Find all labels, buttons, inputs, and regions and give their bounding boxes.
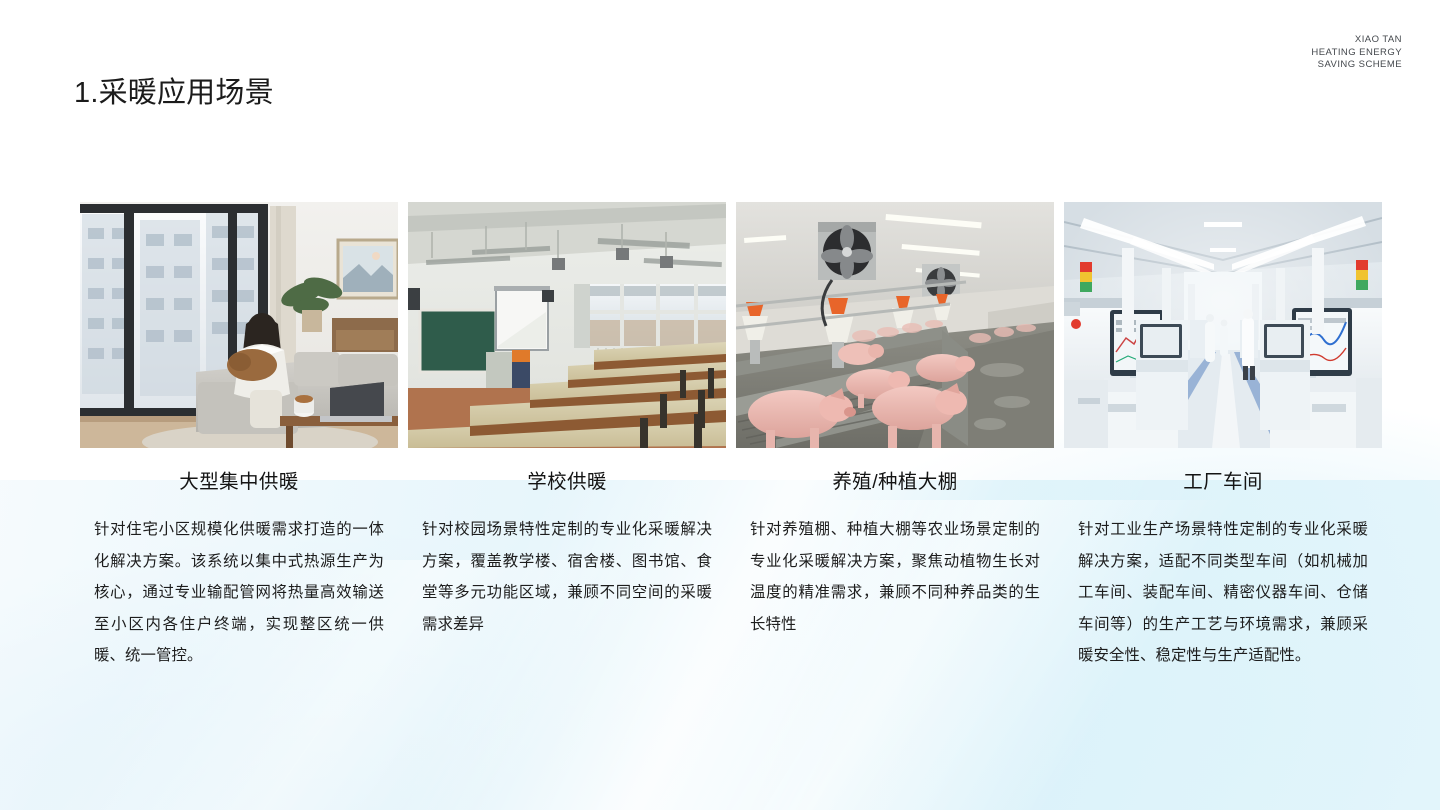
scenario-card-agriculture: 养殖/种植大棚 针对养殖棚、种植大棚等农业场景定制的专业化采暖解决方案，聚焦动植… bbox=[736, 202, 1054, 640]
scenario-card-title: 学校供暖 bbox=[408, 468, 726, 496]
scenario-card-title: 养殖/种植大棚 bbox=[736, 468, 1054, 496]
factory-workshop-photo bbox=[1064, 202, 1382, 448]
scenario-card-school: 学校供暖 针对校园场景特性定制的专业化采暖解决方案，覆盖教学楼、宿舍楼、图书馆、… bbox=[408, 202, 726, 640]
livestock-greenhouse-photo bbox=[736, 202, 1054, 448]
page-title: 1.采暖应用场景 bbox=[74, 73, 274, 113]
school-classroom-photo bbox=[408, 202, 726, 448]
scenario-card-title: 工厂车间 bbox=[1064, 468, 1382, 496]
scenario-card-body: 针对住宅小区规模化供暖需求打造的一体化解决方案。该系统以集中式热源生产为核心，通… bbox=[80, 514, 398, 672]
residential-living-room-photo bbox=[80, 202, 398, 448]
scenario-card-body: 针对养殖棚、种植大棚等农业场景定制的专业化采暖解决方案，聚焦动植物生长对温度的精… bbox=[736, 514, 1054, 640]
scenario-card-residential: 大型集中供暖 针对住宅小区规模化供暖需求打造的一体化解决方案。该系统以集中式热源… bbox=[80, 202, 398, 672]
scenario-card-row: 大型集中供暖 针对住宅小区规模化供暖需求打造的一体化解决方案。该系统以集中式热源… bbox=[80, 202, 1363, 672]
brand-logo-line-2: HEATING ENERGY bbox=[1311, 47, 1402, 60]
slide-root: XIAO TAN HEATING ENERGY SAVING SCHEME 1.… bbox=[0, 0, 1440, 810]
brand-logo: XIAO TAN HEATING ENERGY SAVING SCHEME bbox=[1311, 34, 1402, 72]
scenario-card-title: 大型集中供暖 bbox=[80, 468, 398, 496]
brand-logo-line-3: SAVING SCHEME bbox=[1311, 59, 1402, 72]
scenario-card-factory: 工厂车间 针对工业生产场景特性定制的专业化采暖解决方案，适配不同类型车间（如机械… bbox=[1064, 202, 1382, 672]
brand-logo-line-1: XIAO TAN bbox=[1311, 34, 1402, 47]
scenario-card-body: 针对校园场景特性定制的专业化采暖解决方案，覆盖教学楼、宿舍楼、图书馆、食堂等多元… bbox=[408, 514, 726, 640]
scenario-card-body: 针对工业生产场景特性定制的专业化采暖解决方案，适配不同类型车间（如机械加工车间、… bbox=[1064, 514, 1382, 672]
